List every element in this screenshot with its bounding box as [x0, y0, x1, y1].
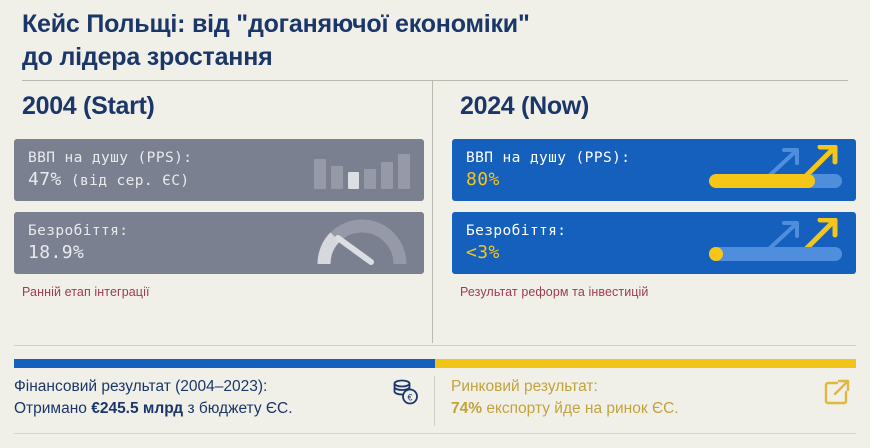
page-title-line-2: до лідера зростання	[22, 43, 273, 71]
gauge-icon	[316, 216, 408, 266]
footer: Фінансовий результат (2004–2023): Отрима…	[14, 376, 856, 426]
external-link-icon[interactable]	[822, 377, 852, 407]
card-gdp-2004: ВВП на душу (PPS): 47% (від сер. ЄС)	[14, 139, 424, 201]
card-gdp-2024-number: 80%	[466, 169, 500, 190]
flag-bar-blue	[14, 359, 435, 368]
footer-market-text: Ринковий результат: 74% експорту йде на …	[451, 376, 856, 421]
footer-financial-result: Фінансовий результат (2004–2023): Отрима…	[14, 376, 435, 426]
footer-financial-amount: €245.5 млрд	[91, 400, 183, 417]
footer-market-result: Ринковий результат: 74% експорту йде на …	[435, 376, 856, 426]
header-divider	[22, 80, 848, 81]
infographic-root: Кейс Польщі: від "доганяючої економіки" …	[0, 0, 870, 448]
footer-financial-line-1: Фінансовий результат (2004–2023):	[14, 378, 267, 395]
page-title: Кейс Польщі: від "доганяючої економіки" …	[22, 8, 842, 74]
eu-flag-bar	[14, 359, 856, 368]
footer-market-line-1: Ринковий результат:	[451, 378, 598, 395]
flag-bar-yellow	[435, 359, 856, 368]
card-unemployment-2024: Безробіття: <3%	[452, 212, 856, 274]
euro-coins-icon: €	[390, 377, 420, 407]
card-unemployment-2004-number: 18.9%	[28, 242, 84, 263]
caption-2004: Ранній етап інтеграції	[22, 285, 424, 299]
footer-top-divider	[14, 345, 856, 346]
card-unemployment-2004: Безробіття: 18.9%	[14, 212, 424, 274]
column-2024-heading: 2024 (Now)	[460, 92, 856, 121]
page-title-line-1: Кейс Польщі: від "доганяючої економіки"	[22, 10, 530, 38]
footer-financial-line-2-suffix: з бюджету ЄС.	[183, 400, 292, 417]
column-2004-heading: 2004 (Start)	[22, 92, 424, 121]
progress-bar-unemployment-2024	[709, 247, 842, 261]
card-gdp-2024: ВВП на душу (PPS): 80%	[452, 139, 856, 201]
bar-chart-icon	[314, 147, 410, 189]
column-divider	[432, 81, 433, 343]
card-gdp-2004-note: (від сер. ЄС)	[62, 173, 190, 189]
footer-market-line-2-suffix: експорту йде на ринок ЄС.	[482, 400, 679, 417]
svg-text:€: €	[407, 393, 412, 403]
column-2024: 2024 (Now) ВВП на душу (PPS): 80% Безроб…	[452, 92, 856, 299]
footer-bottom-divider	[14, 433, 856, 434]
progress-bar-gdp-2024-fill	[709, 174, 815, 188]
footer-market-percent: 74%	[451, 400, 482, 417]
footer-financial-text: Фінансовий результат (2004–2023): Отрима…	[14, 376, 390, 421]
card-gdp-2004-number: 47%	[28, 169, 62, 190]
progress-bar-gdp-2024	[709, 174, 842, 188]
column-2004: 2004 (Start) ВВП на душу (PPS): 47% (від…	[14, 92, 424, 299]
footer-financial-line-2-prefix: Отримано	[14, 400, 91, 417]
card-unemployment-2024-number: <3%	[466, 242, 500, 263]
caption-2024: Результат реформ та інвестицій	[460, 285, 856, 299]
